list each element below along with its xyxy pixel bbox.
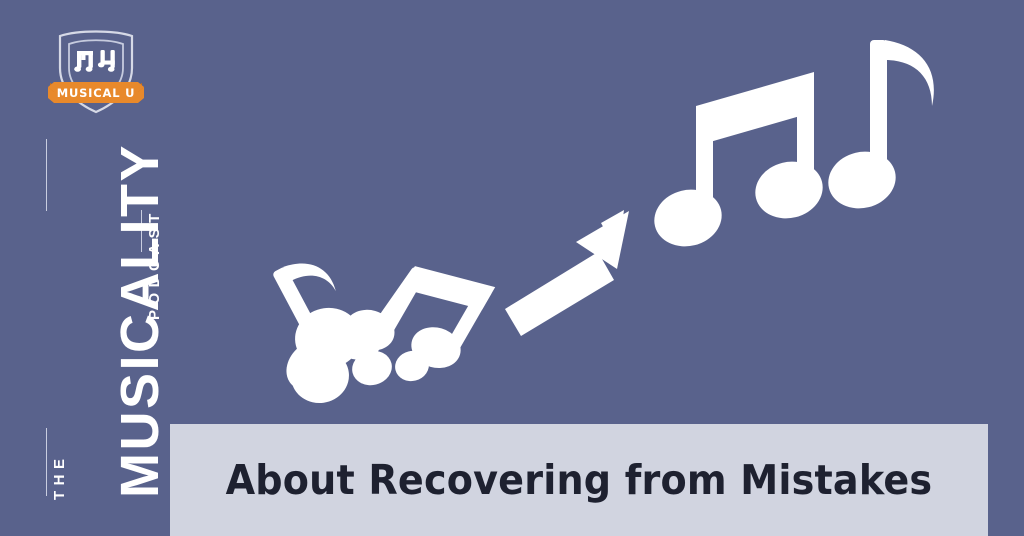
branding-word-musicality: MUSICALITY bbox=[113, 143, 167, 498]
branding-word-podcast: PODCAST bbox=[147, 208, 162, 320]
episode-title: About Recovering from Mistakes bbox=[226, 456, 933, 504]
divider-line-bottom bbox=[46, 428, 47, 496]
branding-word-the: THE bbox=[52, 454, 67, 501]
sidebar-vertical-branding: THE MUSICALITY PODCAST bbox=[0, 0, 160, 536]
podcast-episode-artwork: MUSICAL U THE MUSICALITY PODCAST bbox=[0, 0, 1024, 536]
upward-arrow-icon bbox=[505, 210, 629, 336]
divider-line-top bbox=[46, 139, 47, 211]
jumbled-music-notes-icon bbox=[236, 229, 503, 407]
episode-title-band: About Recovering from Mistakes bbox=[170, 424, 988, 536]
episode-illustration bbox=[180, 18, 1000, 418]
tidy-music-notes-icon bbox=[648, 40, 934, 253]
